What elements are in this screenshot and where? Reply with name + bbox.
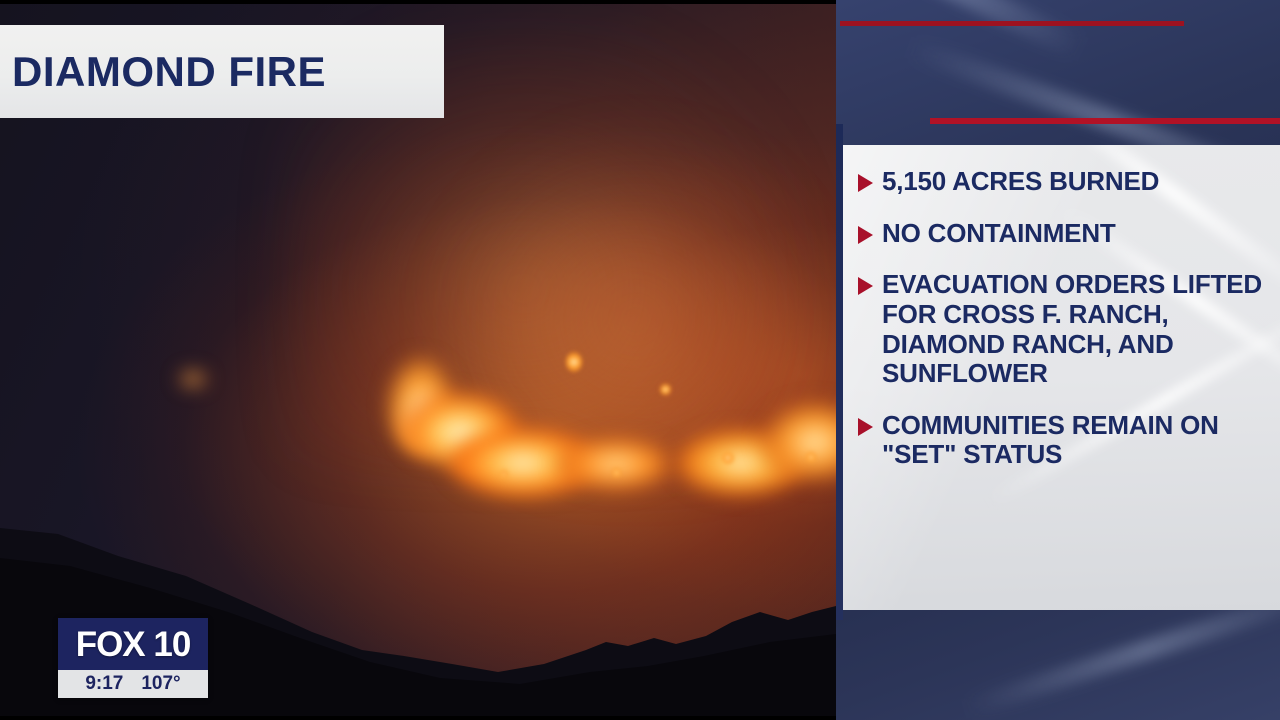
temperature-readout: 107° xyxy=(141,673,180,695)
time-temperature-strip: 9:17 107° xyxy=(58,670,208,698)
background-streak-1 xyxy=(836,0,1087,60)
fire-facts-list: 5,150 ACRES BURNED NO CONTAINMENT EVACUA… xyxy=(843,145,1280,470)
bullet-panel: 5,150 ACRES BURNED NO CONTAINMENT EVACUA… xyxy=(843,145,1280,610)
station-logo-bug: FOX 10 9:17 107° xyxy=(58,618,208,698)
list-item-label: 5,150 ACRES BURNED xyxy=(882,167,1159,197)
panel-left-edge xyxy=(836,124,843,620)
accent-rule-bottom xyxy=(930,118,1280,124)
list-item: COMMUNITIES REMAIN ON "SET" STATUS xyxy=(858,411,1266,470)
accent-rule-top xyxy=(840,21,1184,26)
triangle-bullet-icon xyxy=(858,226,873,244)
graphic-title-card: DIAMOND FIRE xyxy=(0,25,444,118)
triangle-bullet-icon xyxy=(858,174,873,192)
list-item: EVACUATION ORDERS LIFTED FOR CROSS F. RA… xyxy=(858,270,1266,389)
station-wordmark: FOX 10 xyxy=(76,627,191,662)
fox10-logo: FOX 10 xyxy=(58,618,208,670)
list-item-label: COMMUNITIES REMAIN ON "SET" STATUS xyxy=(882,411,1266,470)
list-item: 5,150 ACRES BURNED xyxy=(858,167,1266,197)
triangle-bullet-icon xyxy=(858,418,873,436)
page-title: DIAMOND FIRE xyxy=(0,51,326,93)
letterbox-bar-bottom xyxy=(0,716,836,720)
list-item-label: NO CONTAINMENT xyxy=(882,219,1116,249)
broadcast-screen: FOX 10 9:17 107° DIAMOND FIRE 5,150 ACRE… xyxy=(0,0,1280,720)
triangle-bullet-icon xyxy=(858,277,873,295)
list-item-label: EVACUATION ORDERS LIFTED FOR CROSS F. RA… xyxy=(882,270,1266,389)
list-item: NO CONTAINMENT xyxy=(858,219,1266,249)
letterbox-bar-top xyxy=(0,0,836,4)
clock-readout: 9:17 xyxy=(85,673,123,695)
